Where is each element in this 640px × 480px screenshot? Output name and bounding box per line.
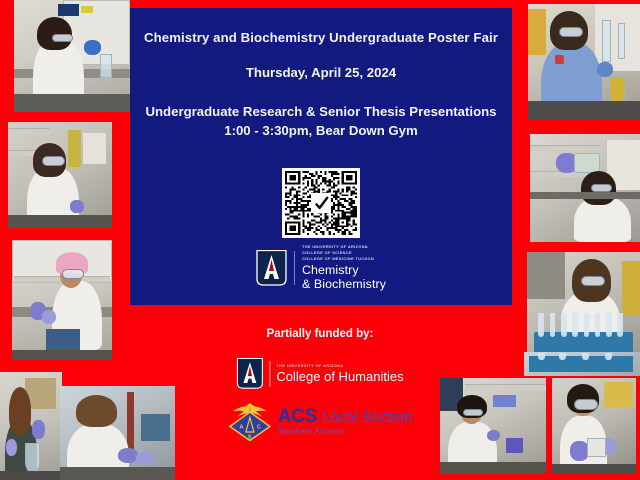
svg-text:S: S (248, 435, 252, 441)
acs-diamond-icon: A C S (228, 401, 272, 441)
photo-tr-1: Student in blue lab coat at a glassware … (528, 4, 640, 120)
photo-bl-4: Student pipetting into an Erlenmeyer fla… (0, 372, 62, 480)
photo-br-4: Student seated at a lab bench with sampl… (440, 378, 546, 474)
sponsor-acs-southern-arizona: A C S ACS Local Section Southern Arizona (228, 401, 412, 441)
event-time-location: 1:00 - 3:30pm, Bear Down Gym (136, 121, 506, 140)
acs-acronym: ACS (278, 407, 317, 426)
checkmark-icon (311, 193, 331, 213)
photo-tl-2: Smiling student with safety goggles in a… (8, 122, 112, 228)
logo-divider (294, 251, 295, 285)
ua-block-a-icon (256, 250, 287, 286)
photo-tl-1: Student in white lab coat pipetting at a… (14, 0, 130, 112)
sponsor-college-of-humanities: THE UNIVERSITY OF ARIZONA College of Hum… (236, 358, 403, 389)
dept-logo-name: Chemistry & Biochemistry (302, 264, 386, 292)
photo-br-5: Student in goggles and blue gloves handl… (552, 378, 636, 474)
funding-heading: Partially funded by: (0, 328, 640, 340)
photo-bl-5: Researcher in lab coat working with equi… (60, 386, 175, 480)
chemistry-biochemistry-logo: THE UNIVERSITY OF ARIZONA COLLEGE OF SCI… (256, 244, 386, 292)
poster-canvas: Student in white lab coat pipetting at a… (0, 0, 640, 480)
event-subtitle-line1: Undergraduate Research & Senior Thesis P… (145, 104, 496, 119)
ua-block-a-icon (236, 358, 263, 389)
photo-br-6: Lab bench with instruments (524, 352, 640, 376)
main-info-panel: Chemistry and Biochemistry Undergraduate… (130, 8, 512, 305)
acs-region-label: Southern Arizona (278, 427, 412, 435)
page-title: Chemistry and Biochemistry Undergraduate… (130, 8, 512, 46)
dept-logo-eyebrow: THE UNIVERSITY OF ARIZONA COLLEGE OF SCI… (302, 244, 386, 262)
sponsor-name: College of Humanities (276, 370, 403, 384)
svg-text:C: C (257, 425, 261, 431)
event-subtitle: Undergraduate Research & Senior Thesis P… (130, 80, 512, 140)
svg-text:A: A (239, 425, 243, 431)
photo-l-3: Student wearing pink cap and goggles wor… (12, 240, 112, 360)
qr-code[interactable] (282, 168, 360, 238)
photo-tr-2: Student holding up a petri dish (530, 134, 640, 242)
acs-section-label: Local Section (322, 410, 412, 425)
event-date: Thursday, April 25, 2024 (130, 46, 512, 80)
logo-divider (269, 361, 270, 387)
